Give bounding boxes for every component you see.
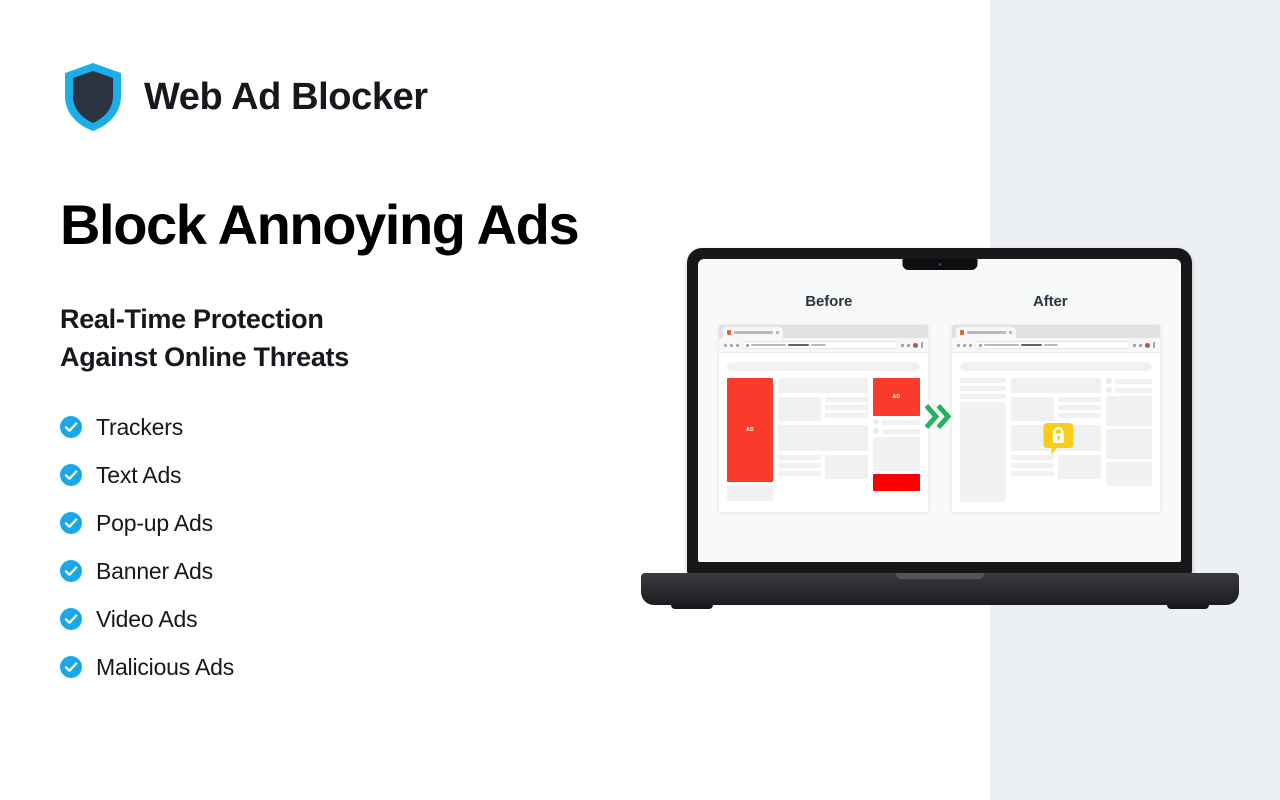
text-line [1011, 463, 1054, 468]
page-title: Block Annoying Ads [60, 196, 578, 255]
text-line [778, 463, 821, 468]
list-item: Text Ads [60, 451, 234, 499]
list-item: Pop-up Ads [60, 499, 234, 547]
list-item: Banner Ads [60, 547, 234, 595]
avatar-placeholder [873, 428, 879, 434]
avatar-placeholder [873, 419, 879, 425]
text-line [825, 397, 868, 402]
page-hero-bar [960, 362, 1153, 371]
avatar[interactable] [913, 343, 918, 348]
brand-name: Web Ad Blocker [144, 78, 428, 116]
avatar[interactable] [1145, 343, 1150, 348]
check-circle-icon [60, 608, 82, 630]
list-item-label: Video Ads [96, 606, 197, 633]
content-block [1106, 396, 1152, 426]
before-browser-window: AD [718, 324, 929, 513]
text-line [778, 471, 821, 476]
laptop-lid: Before After [687, 248, 1192, 575]
comparison-titles: Before After [718, 293, 1161, 310]
list-item [1106, 387, 1152, 393]
extension-icon[interactable] [907, 344, 910, 347]
protection-lock-badge [1043, 423, 1073, 461]
ad-square-block: AD [873, 378, 919, 416]
subtitle-line-1: Real-Time Protection [60, 300, 349, 338]
content-block [727, 485, 773, 501]
browser-toolbar [719, 338, 928, 353]
page-subtitle: Real-Time Protection Against Online Thre… [60, 300, 349, 377]
check-circle-icon [60, 416, 82, 438]
overflow-menu-icon[interactable] [1153, 342, 1155, 348]
text-line [1115, 388, 1152, 393]
avatar-placeholder [1106, 387, 1112, 393]
lock-icon [746, 344, 749, 347]
reload-icon[interactable] [969, 344, 972, 347]
browser-tab-bar [952, 325, 1161, 338]
list-item-label: Trackers [96, 414, 183, 441]
text-line [1115, 379, 1152, 384]
back-icon[interactable] [957, 344, 960, 347]
url-placeholder [984, 344, 1019, 346]
address-bar[interactable] [975, 341, 1131, 349]
extension-icon[interactable] [901, 344, 904, 347]
list-item: Video Ads [60, 595, 234, 643]
list-item [873, 419, 919, 425]
lock-icon [1043, 443, 1073, 460]
forward-icon[interactable] [730, 344, 733, 347]
check-circle-icon [60, 512, 82, 534]
url-placeholder [811, 344, 826, 346]
text-line [825, 413, 868, 418]
text-line [825, 405, 868, 410]
content-block [960, 402, 1006, 502]
before-page-content: AD [719, 353, 928, 511]
url-placeholder [1044, 344, 1059, 346]
check-circle-icon [60, 464, 82, 486]
browser-tab[interactable] [956, 327, 1016, 338]
laptop-foot [1167, 604, 1209, 609]
list-item [1106, 378, 1152, 384]
content-block [1106, 462, 1152, 486]
text-line [1058, 413, 1101, 418]
ad-sidebar-block: AD [727, 378, 773, 482]
extension-icon[interactable] [1139, 344, 1142, 347]
content-block [1011, 397, 1054, 421]
avatar-placeholder [1106, 378, 1112, 384]
tab-title-placeholder [967, 331, 1006, 334]
url-placeholder [751, 344, 786, 346]
text-line [778, 455, 821, 460]
content-block [778, 378, 868, 393]
after-page-content [952, 353, 1161, 512]
list-item: Malicious Ads [60, 643, 234, 691]
url-placeholder [788, 344, 809, 346]
shield-icon [62, 62, 124, 132]
laptop-base [641, 573, 1239, 605]
after-browser-window [951, 324, 1162, 513]
double-chevron-right-icon [925, 404, 955, 433]
content-block [1106, 429, 1152, 459]
check-circle-icon [60, 656, 82, 678]
comparison-panels: AD [718, 324, 1161, 513]
address-bar[interactable] [742, 341, 898, 349]
page-hero-bar [727, 362, 920, 371]
content-block [873, 437, 919, 471]
close-icon[interactable] [1009, 331, 1012, 334]
check-circle-icon [60, 560, 82, 582]
laptop-mockup: Before After [641, 248, 1239, 610]
ad-banner-block [873, 474, 919, 491]
list-item-label: Malicious Ads [96, 654, 234, 681]
text-line [882, 420, 919, 425]
before-panel-title: Before [718, 293, 940, 310]
text-line [960, 378, 1006, 383]
favicon-icon [727, 330, 731, 335]
laptop-base-notch [896, 573, 984, 579]
list-item: Trackers [60, 403, 234, 451]
url-placeholder [1021, 344, 1042, 346]
list-item [873, 428, 919, 434]
text-line [882, 429, 919, 434]
reload-icon[interactable] [736, 344, 739, 347]
laptop-camera-notch [902, 259, 977, 270]
content-block [778, 425, 868, 451]
content-block [1011, 378, 1101, 393]
close-icon[interactable] [776, 331, 779, 334]
before-after-comparison: Before After [718, 293, 1161, 534]
favicon-icon [960, 330, 964, 335]
browser-tab-bar [719, 325, 928, 338]
browser-toolbar [952, 338, 1161, 353]
text-line [1011, 471, 1054, 476]
forward-icon[interactable] [963, 344, 966, 347]
laptop-screen: Before After [698, 259, 1181, 562]
tab-title-placeholder [734, 331, 773, 334]
list-item-label: Banner Ads [96, 558, 213, 585]
browser-tab[interactable] [723, 327, 783, 338]
content-block [825, 455, 868, 479]
back-icon[interactable] [724, 344, 727, 347]
laptop-foot [671, 604, 713, 609]
overflow-menu-icon[interactable] [921, 342, 923, 348]
text-line [1058, 397, 1101, 402]
brand-lockup: Web Ad Blocker [62, 62, 428, 132]
text-line [960, 386, 1006, 391]
list-item-label: Pop-up Ads [96, 510, 213, 537]
text-line [960, 394, 1006, 399]
camera-icon [938, 263, 941, 266]
feature-list: Trackers Text Ads Pop-up Ads Banner Ads [60, 403, 234, 691]
list-item-label: Text Ads [96, 462, 181, 489]
lock-icon [979, 344, 982, 347]
after-panel-title: After [940, 293, 1162, 310]
extension-icon[interactable] [1133, 344, 1136, 347]
subtitle-line-2: Against Online Threats [60, 338, 349, 376]
content-block [778, 397, 821, 421]
text-line [1058, 405, 1101, 410]
